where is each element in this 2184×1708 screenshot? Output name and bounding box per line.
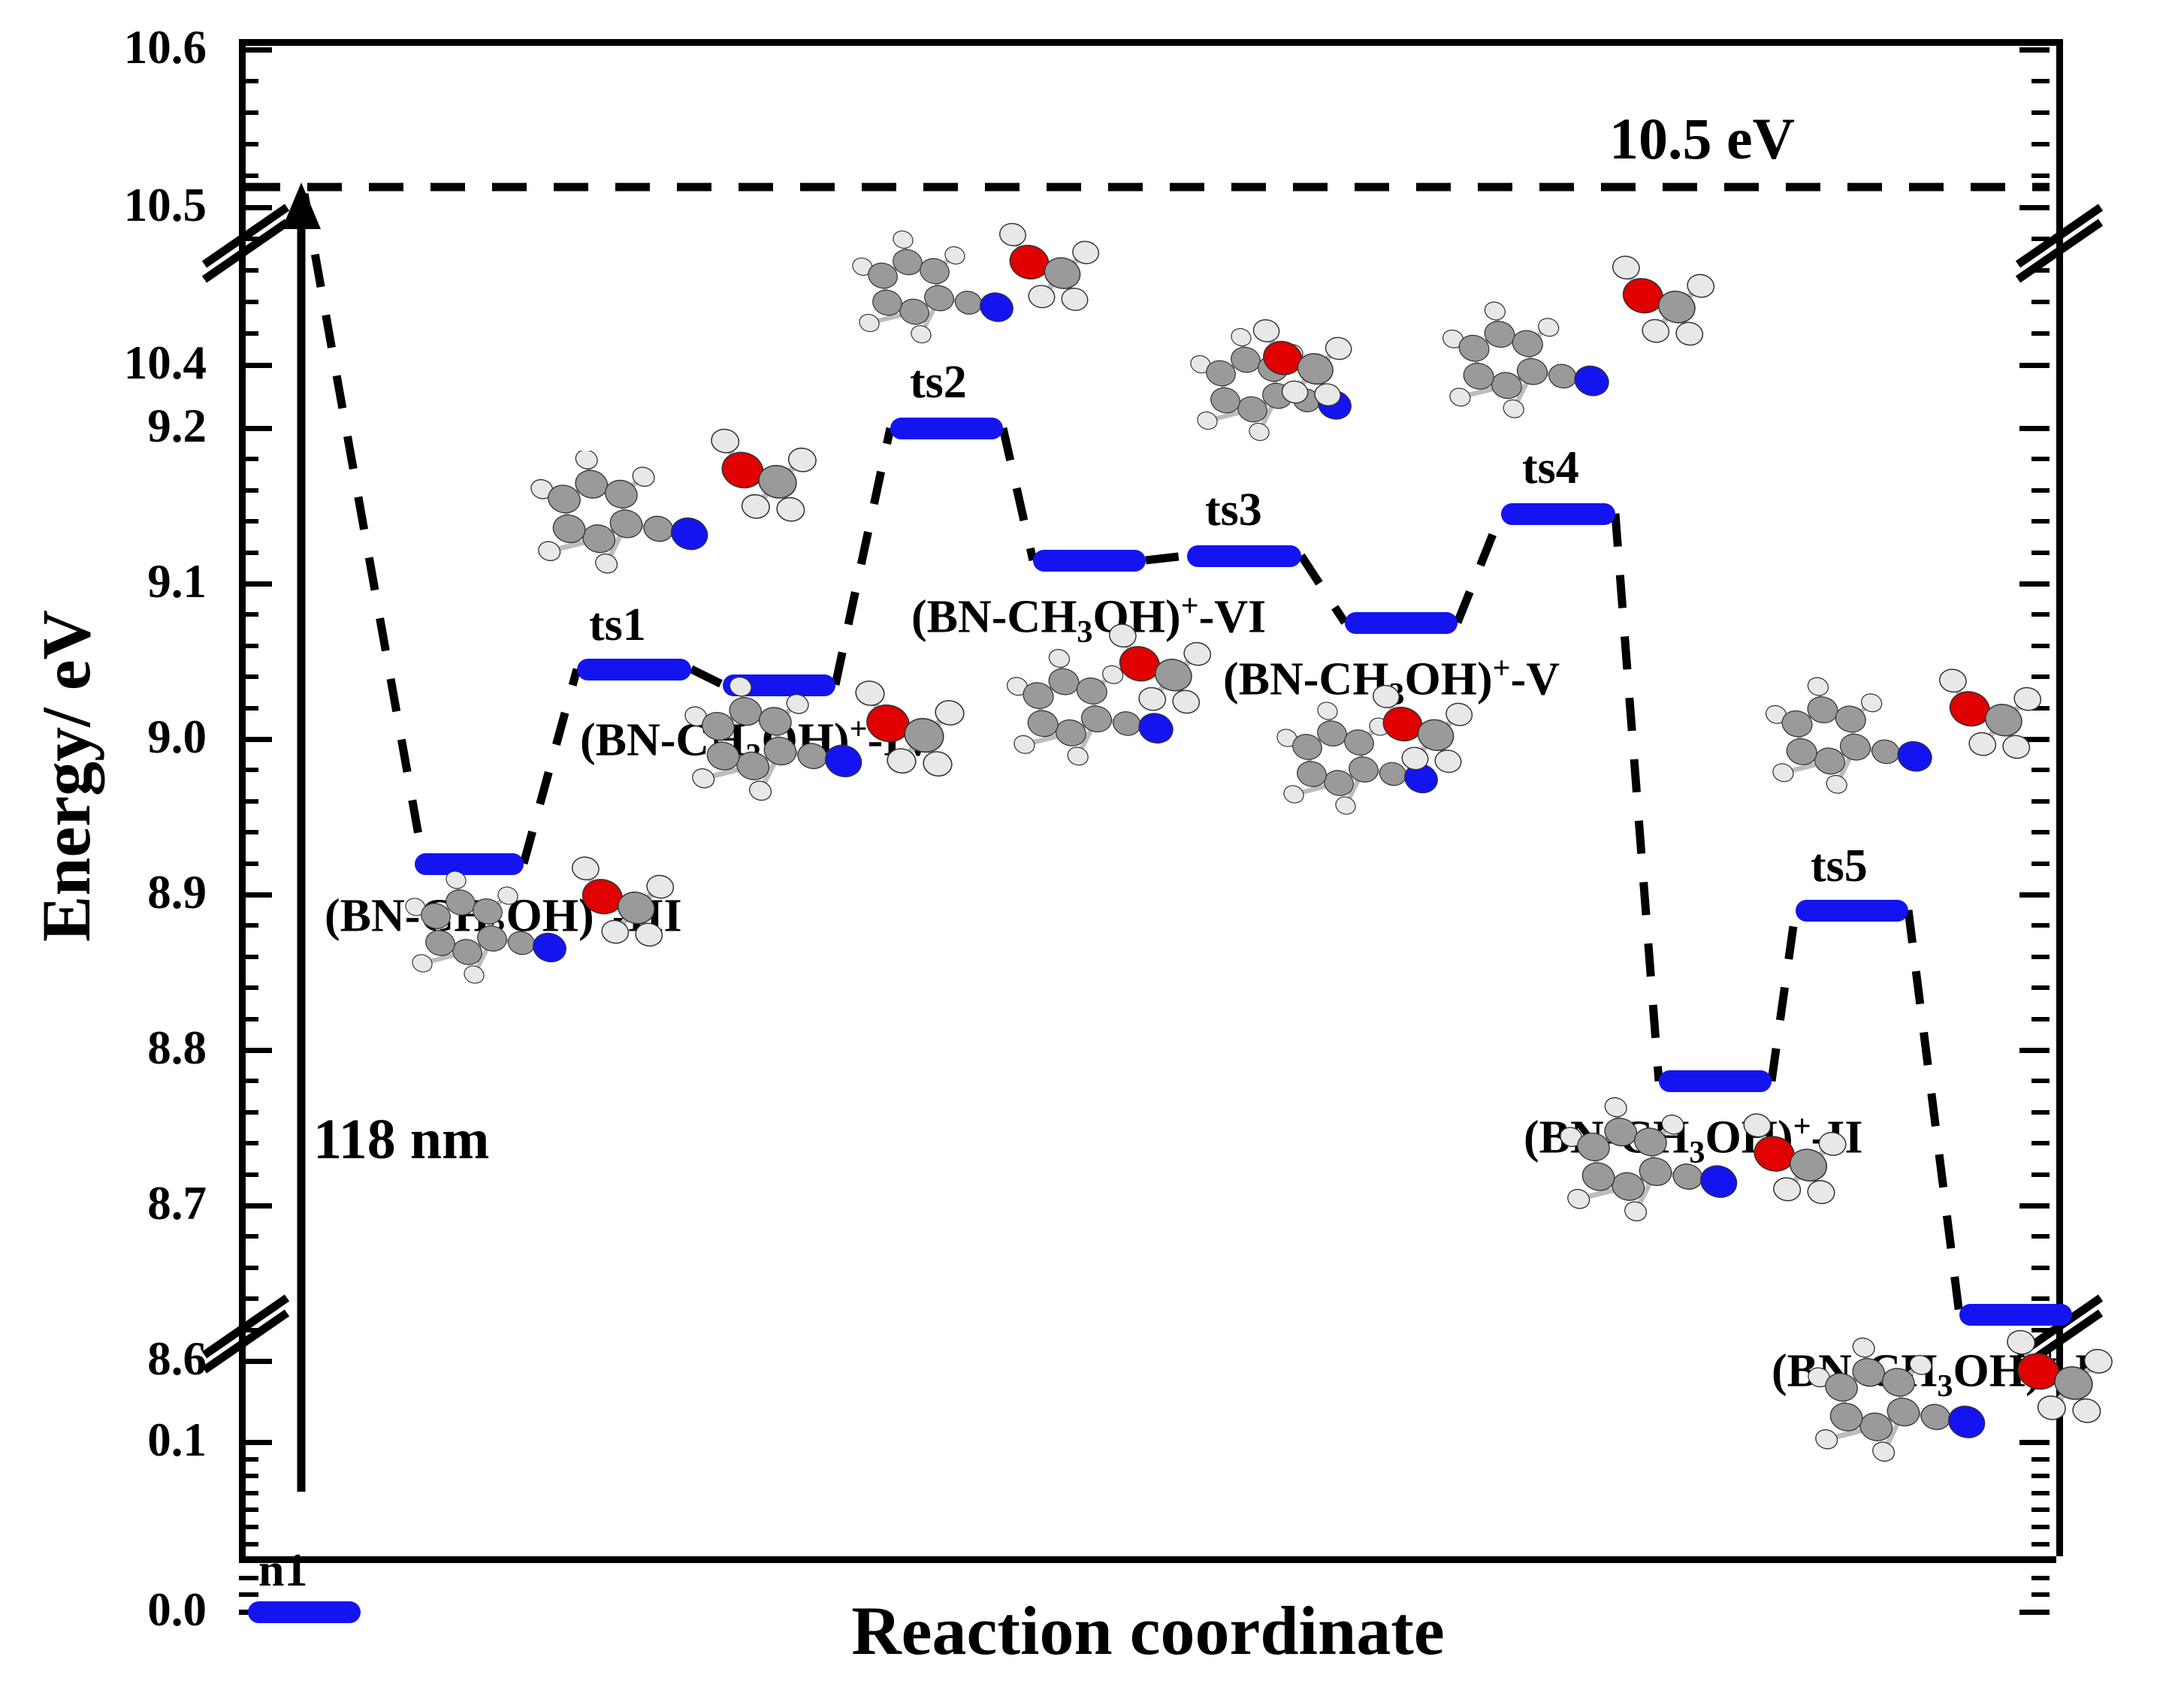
y-tick-minor <box>239 923 258 928</box>
y-tick-label-8-7: 8.7 <box>34 1180 207 1227</box>
y-tick-minor-right <box>2031 457 2050 461</box>
y-tick-minor-right <box>2031 612 2050 617</box>
y-tick-minor-right <box>2031 1507 2050 1512</box>
y-tick-minor <box>239 142 258 146</box>
molecule-vi-methanol <box>1097 616 1225 729</box>
y-tick-minor-right <box>2031 644 2050 648</box>
y-tick-minor-right <box>2031 268 2050 273</box>
y-tick-minor <box>239 1525 258 1529</box>
y-tick-minor <box>239 830 258 834</box>
y-tick-8-7 <box>239 1203 272 1209</box>
y-tick-minor-right <box>2031 1110 2050 1115</box>
y-tick-minor-right <box>2031 331 2050 336</box>
y-tick-minor-right <box>2031 142 2050 146</box>
molecule-i-methanol <box>1995 1322 2126 1438</box>
y-tick-label-10-5: 10.5 <box>34 182 207 229</box>
energy-level-v <box>1345 612 1458 634</box>
energy-level-ii <box>1659 1070 1772 1092</box>
y-tick-0-1 <box>239 1440 272 1445</box>
y-tick-minor-right <box>2031 1266 2050 1270</box>
y-tick-minor-right <box>2031 862 2050 866</box>
y-tick-8-8 <box>239 1048 272 1053</box>
y-tick-minor-right <box>2031 110 2050 115</box>
y-tick-minor <box>239 985 258 990</box>
y-tick-minor-right <box>2031 1296 2050 1301</box>
y-tick-minor <box>239 79 258 83</box>
y-tick-minor-right <box>2031 1559 2050 1563</box>
y-tick-10-5 <box>239 205 272 210</box>
y-tick-minor <box>239 862 258 866</box>
y-tick-minor-right <box>2031 237 2050 241</box>
y-tick-minor <box>239 551 258 555</box>
y-tick-minor-right <box>2031 79 2050 83</box>
y-tick-minor-right <box>2031 551 2050 555</box>
molecule-ts4-methanol <box>1600 248 1728 361</box>
y-tick-minor <box>239 488 258 493</box>
y-tick-minor <box>239 1542 258 1547</box>
y-tick-minor <box>239 1576 258 1580</box>
y-tick-minor <box>239 1079 258 1083</box>
y-tick-minor <box>239 1141 258 1145</box>
y-tick-minor-right <box>2031 985 2050 990</box>
energy-level-label-n1: n1 <box>258 1547 307 1594</box>
y-tick-label-10-6: 10.6 <box>34 24 207 71</box>
y-tick-minor-right <box>2031 923 2050 928</box>
y-tick-right-8-7 <box>2019 1203 2050 1209</box>
y-tick-minor-right <box>2031 519 2050 524</box>
y-tick-minor <box>239 1234 258 1239</box>
y-tick-minor-right <box>2031 174 2050 178</box>
y-tick-right-10-4 <box>2019 363 2050 368</box>
energy-level-label-ts3: ts3 <box>1205 487 1262 533</box>
y-tick-minor <box>239 1491 258 1495</box>
y-tick-minor <box>239 706 258 711</box>
y-tick-8-9 <box>239 892 272 898</box>
reference-energy-label: 10.5 eV <box>1609 105 1795 173</box>
y-tick-minor <box>239 1296 258 1301</box>
y-tick-minor <box>239 457 258 461</box>
energy-level-label-ts4: ts4 <box>1522 445 1579 491</box>
top-frame-line <box>239 39 2056 46</box>
y-tick-8-6 <box>239 1359 272 1364</box>
y-tick-minor-right <box>2031 1525 2050 1529</box>
y-tick-minor-right <box>2031 300 2050 304</box>
y-tick-right-9-1 <box>2019 581 2050 587</box>
y-tick-minor <box>239 955 258 959</box>
y-tick-label-0-0: 0.0 <box>34 1586 207 1634</box>
y-tick-minor-right <box>2031 955 2050 959</box>
energy-level-ts4 <box>1501 503 1615 525</box>
y-tick-minor <box>239 519 258 524</box>
y-tick-minor <box>239 268 258 273</box>
y-tick-minor <box>239 768 258 772</box>
molecule-ts2-methanol <box>988 214 1112 327</box>
y-tick-minor-right <box>2031 1542 2050 1547</box>
y-tick-minor-right <box>2031 488 2050 493</box>
y-tick-9-0 <box>239 737 272 742</box>
molecule-ts3-methanol <box>1241 312 1365 421</box>
energy-profile-figure: 10.610.510.49.29.19.08.98.88.78.60.10.0 … <box>0 0 2184 1708</box>
y-tick-minor <box>239 237 258 241</box>
y-tick-minor <box>239 174 258 178</box>
energy-level-label-ts5: ts5 <box>1811 843 1868 889</box>
y-tick-minor-right <box>2031 830 2050 834</box>
excitation-wavelength-label: 118 nm <box>313 1107 489 1172</box>
energy-level-ts5 <box>1796 900 1908 922</box>
y-tick-label-0-1: 0.1 <box>34 1417 207 1464</box>
y-tick-right-10-5 <box>2019 205 2050 210</box>
molecule-ii-methanol <box>1732 1104 1859 1221</box>
y-tick-minor <box>239 644 258 648</box>
y-tick-9-2 <box>239 426 272 431</box>
y-tick-minor-right <box>2031 1172 2050 1177</box>
molecule-iv-methanol <box>843 672 978 792</box>
y-tick-right-9-2 <box>2019 426 2050 431</box>
x-axis-line <box>239 1556 2056 1563</box>
y-tick-minor <box>239 331 258 336</box>
y-tick-minor <box>239 1507 258 1512</box>
y-tick-label-10-4: 10.4 <box>34 339 207 387</box>
energy-level-n1 <box>248 1601 361 1623</box>
y-tick-minor <box>239 1172 258 1177</box>
y-tick-minor-right <box>2031 1491 2050 1495</box>
energy-level-label-ts1: ts1 <box>589 602 646 648</box>
y-tick-minor <box>239 1266 258 1270</box>
y-tick-label-8-6: 8.6 <box>34 1335 207 1383</box>
y-tick-label-9-2: 9.2 <box>34 403 207 450</box>
y-tick-minor <box>239 1017 258 1021</box>
x-axis-title: Reaction coordinate <box>239 1591 2057 1670</box>
y-tick-minor <box>239 612 258 617</box>
y-tick-minor-right <box>2031 1576 2050 1580</box>
y-tick-minor <box>239 1328 258 1332</box>
y-tick-minor-right <box>2031 1017 2050 1021</box>
molecule-ts1-methanol <box>699 421 830 537</box>
y-tick-minor-right <box>2031 1234 2050 1239</box>
y-tick-10-6 <box>239 47 272 53</box>
y-tick-10-4 <box>239 363 272 368</box>
y-tick-right-8-8 <box>2019 1048 2050 1053</box>
molecule-n1-methanol <box>560 849 687 961</box>
y-tick-minor <box>239 1110 258 1115</box>
y-tick-minor <box>239 300 258 304</box>
y-tick-minor <box>239 674 258 679</box>
y-tick-minor <box>239 1457 258 1462</box>
y-tick-minor <box>239 799 258 804</box>
y-tick-minor-right <box>2031 1141 2050 1145</box>
molecule-v-methanol <box>1361 676 1485 789</box>
energy-level-ts3 <box>1187 545 1301 567</box>
y-tick-minor-right <box>2031 799 2050 804</box>
y-tick-9-1 <box>239 581 272 587</box>
y-tick-minor <box>239 1559 258 1563</box>
y-tick-minor-right <box>2031 1079 2050 1083</box>
y-axis-title: Energy/ eV <box>26 513 106 1039</box>
y-tick-right-10-6 <box>2019 47 2050 53</box>
energy-level-ts2 <box>890 418 1003 439</box>
y-tick-minor <box>239 110 258 115</box>
y-tick-minor <box>239 1474 258 1478</box>
y-tick-right-8-9 <box>2019 892 2050 898</box>
energy-level-label-ts2: ts2 <box>910 359 967 406</box>
energy-level-vi <box>1033 550 1146 572</box>
molecule-ts5-methanol <box>1927 661 2055 774</box>
